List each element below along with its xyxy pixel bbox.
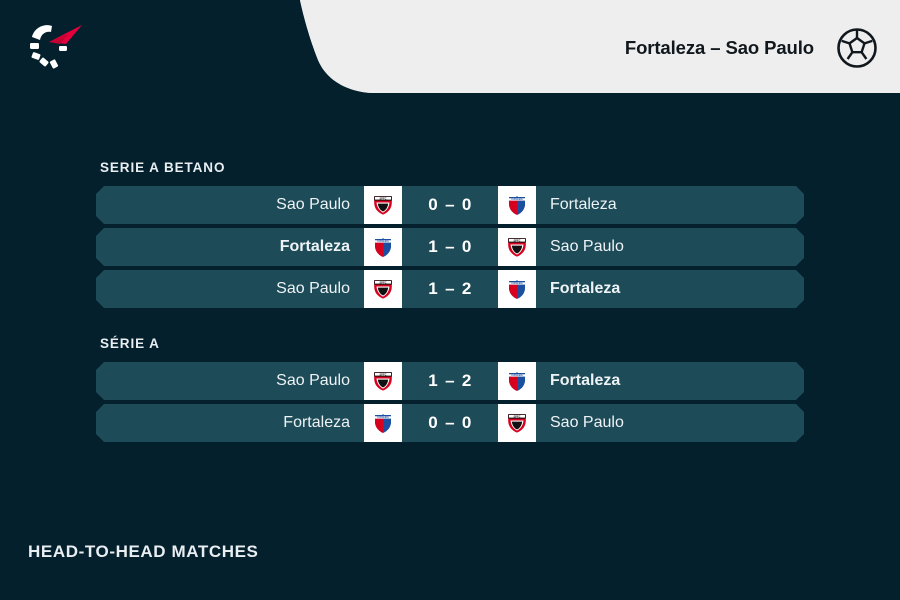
app-header: Fortaleza – Sao Paulo	[0, 0, 900, 96]
home-team-name: Fortaleza	[96, 404, 364, 442]
svg-text:FORTALEZA: FORTALEZA	[377, 416, 389, 419]
away-score: 0	[462, 237, 472, 257]
table-row[interactable]: Fortaleza FORTALEZA 0	[96, 404, 804, 442]
fortaleza-crest: FORTALEZA	[498, 270, 536, 308]
sao-paulo-crest: SPFC	[364, 270, 402, 308]
home-score: 1	[428, 237, 438, 257]
score: 1 – 0	[402, 228, 498, 266]
svg-text:SPFC: SPFC	[380, 196, 387, 200]
fortaleza-crest: FORTALEZA	[498, 362, 536, 400]
svg-text:SPFC: SPFC	[514, 414, 521, 418]
competition-section-1: SERIE A BETANO Sao Paulo SPFC	[0, 160, 900, 308]
head-to-head-screen: Fortaleza – Sao Paulo SERIE A BETANO Sao…	[0, 0, 900, 600]
away-score: 2	[462, 279, 472, 299]
table-row[interactable]: Sao Paulo SPFC 0	[96, 186, 804, 224]
flashscore-logo-icon[interactable]	[28, 20, 90, 72]
away-team-name: Sao Paulo	[536, 404, 804, 442]
fortaleza-crest: FORTALEZA	[498, 186, 536, 224]
home-team-name: Sao Paulo	[96, 362, 364, 400]
score: 0 – 0	[402, 404, 498, 442]
header-right-group: Fortaleza – Sao Paulo	[625, 0, 878, 96]
home-team-name: Sao Paulo	[96, 270, 364, 308]
match-rows-serie-a: Sao Paulo SPFC 1	[0, 362, 900, 442]
away-score: 0	[462, 195, 472, 215]
home-team-name: Fortaleza	[96, 228, 364, 266]
score-dash: –	[445, 195, 455, 215]
score-dash: –	[445, 371, 455, 391]
section-title-serie-a-betano: SERIE A BETANO	[0, 160, 900, 175]
sao-paulo-crest: SPFC	[364, 362, 402, 400]
match-list-container: SERIE A BETANO Sao Paulo SPFC	[0, 96, 900, 600]
competition-section-2: SÉRIE A Sao Paulo SPFC	[0, 336, 900, 442]
page-title: Fortaleza – Sao Paulo	[625, 37, 814, 59]
home-score: 0	[428, 195, 438, 215]
sao-paulo-crest: SPFC	[498, 228, 536, 266]
away-score: 0	[462, 413, 472, 433]
home-score: 0	[428, 413, 438, 433]
away-team-name: Fortaleza	[536, 362, 804, 400]
table-row[interactable]: Sao Paulo SPFC 1	[96, 270, 804, 308]
away-team-name: Fortaleza	[536, 186, 804, 224]
home-score: 1	[428, 371, 438, 391]
footer-section-label: HEAD-TO-HEAD MATCHES	[28, 542, 258, 562]
score: 1 – 2	[402, 270, 498, 308]
score-dash: –	[445, 279, 455, 299]
svg-text:FORTALEZA: FORTALEZA	[511, 282, 523, 285]
away-team-name: Sao Paulo	[536, 228, 804, 266]
fortaleza-crest: FORTALEZA	[364, 228, 402, 266]
svg-text:SPFC: SPFC	[380, 280, 387, 284]
svg-text:SPFC: SPFC	[380, 372, 387, 376]
sao-paulo-crest: SPFC	[364, 186, 402, 224]
away-score: 2	[462, 371, 472, 391]
match-rows-serie-a-betano: Sao Paulo SPFC 0	[0, 186, 900, 308]
soccer-ball-icon	[836, 27, 878, 69]
score: 0 – 0	[402, 186, 498, 224]
home-team-name: Sao Paulo	[96, 186, 364, 224]
score-dash: –	[445, 413, 455, 433]
away-team-name: Fortaleza	[536, 270, 804, 308]
score: 1 – 2	[402, 362, 498, 400]
table-row[interactable]: Sao Paulo SPFC 1	[96, 362, 804, 400]
home-score: 1	[428, 279, 438, 299]
score-dash: –	[445, 237, 455, 257]
fortaleza-crest: FORTALEZA	[364, 404, 402, 442]
svg-text:FORTALEZA: FORTALEZA	[377, 240, 389, 243]
svg-text:FORTALEZA: FORTALEZA	[511, 374, 523, 377]
section-title-serie-a: SÉRIE A	[0, 336, 900, 351]
svg-text:SPFC: SPFC	[514, 238, 521, 242]
sao-paulo-crest: SPFC	[498, 404, 536, 442]
svg-text:FORTALEZA: FORTALEZA	[511, 198, 523, 201]
table-row[interactable]: Fortaleza FORTALEZA 1	[96, 228, 804, 266]
